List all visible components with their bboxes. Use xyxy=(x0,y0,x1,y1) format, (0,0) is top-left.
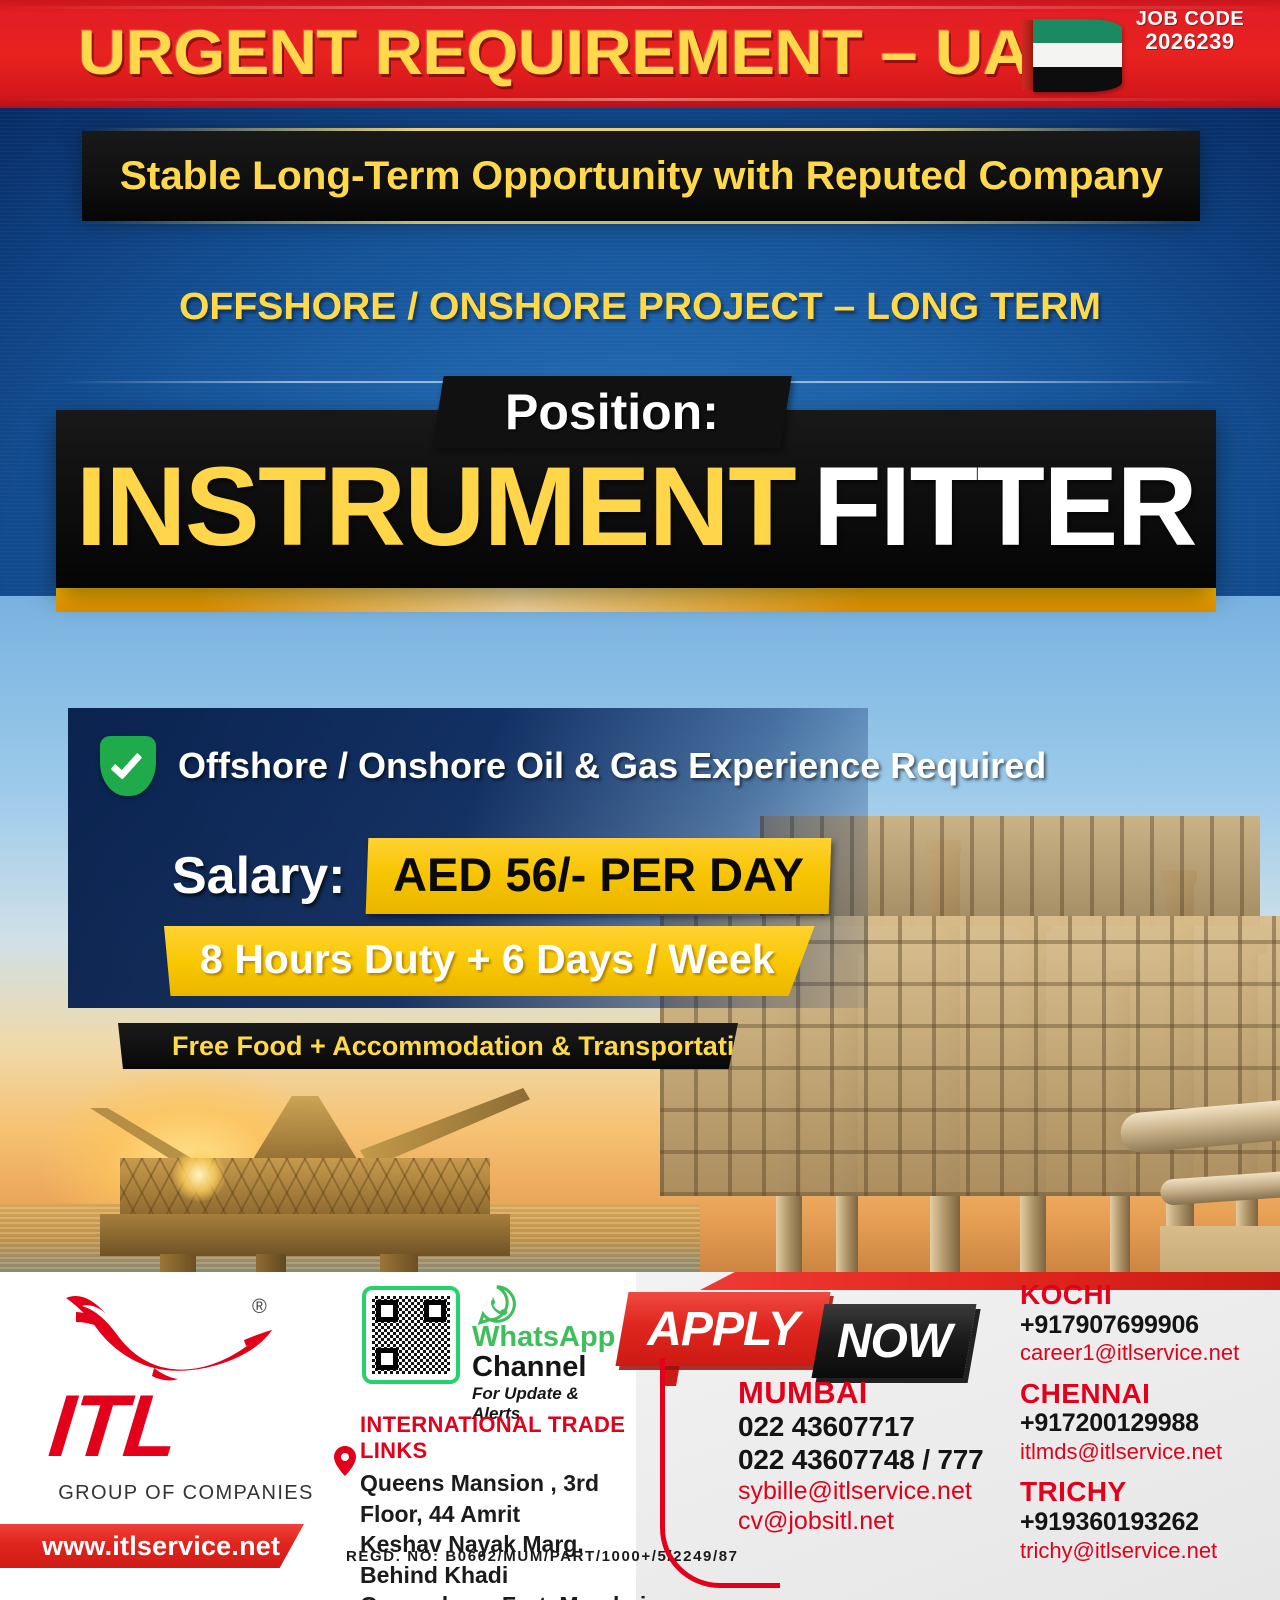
phone-number[interactable]: 022 43607717 xyxy=(738,1410,1008,1443)
email-address[interactable]: sybille@itlservice.net xyxy=(738,1476,1008,1506)
address-line-1: Queens Mansion , 3rd Floor, 44 Amrit xyxy=(360,1468,658,1529)
salary-label: Salary: xyxy=(172,846,345,906)
whatsapp-block[interactable]: WhatsApp Channel For Update & Alerts xyxy=(362,1286,602,1396)
flag-band-black xyxy=(1033,67,1122,92)
contacts-mumbai: MUMBAI 022 43607717 022 43607748 / 777 s… xyxy=(738,1376,1008,1548)
email-address[interactable]: trichy@itlservice.net xyxy=(1020,1538,1270,1564)
rig-derrick xyxy=(250,1096,360,1164)
website-bar[interactable]: www.itlservice.net xyxy=(0,1524,304,1568)
apply-word-black[interactable]: NOW xyxy=(811,1304,976,1378)
flag-pole xyxy=(1022,20,1033,90)
benefits-bar: Free Food + Accommodation & Transportati… xyxy=(118,1023,738,1069)
contact-group: CHENNAI +917200129988 itlmds@itlservice.… xyxy=(1020,1379,1270,1466)
registered-trademark-icon: ® xyxy=(252,1296,267,1319)
rig-deck-lower xyxy=(100,1214,510,1256)
qr-code-icon[interactable] xyxy=(362,1286,460,1384)
salary-value: AED 56/- PER DAY xyxy=(394,847,805,902)
job-title-part1: INSTRUMENT xyxy=(76,442,795,571)
subtitle-bar: Stable Long-Term Opportunity with Repute… xyxy=(82,131,1200,221)
email-address[interactable]: career1@itlservice.net xyxy=(1020,1340,1270,1366)
check-shield-icon xyxy=(100,736,156,796)
project-line: OFFSHORE / ONSHORE PROJECT – LONG TERM xyxy=(0,286,1280,329)
subtitle-text: Stable Long-Term Opportunity with Repute… xyxy=(119,154,1162,199)
footer: ® ITL GROUP OF COMPANIES www.itlservice.… xyxy=(0,1272,1280,1600)
flag-cloth xyxy=(1033,18,1122,92)
header-banner: URGENT REQUIREMENT – UAE JOB CODE 202623… xyxy=(0,0,1280,108)
qr-finder xyxy=(376,1300,398,1322)
requirement-text: Offshore / Onshore Oil & Gas Experience … xyxy=(178,745,1046,787)
contact-group: MUMBAI 022 43607717 022 43607748 / 777 s… xyxy=(738,1376,1008,1536)
address-block: INTERNATIONAL TRADE LINKS Queens Mansion… xyxy=(338,1412,658,1600)
website-url[interactable]: www.itlservice.net xyxy=(42,1531,280,1562)
contact-group: TRICHY +919360193262 trichy@itlservice.n… xyxy=(1020,1477,1270,1564)
rig-crane-right xyxy=(360,1088,530,1168)
contacts-branches: KOCHI +917907699906 career1@itlservice.n… xyxy=(1020,1280,1270,1576)
whatsapp-text: WhatsApp Channel For Update & Alerts xyxy=(472,1322,615,1424)
qr-finder xyxy=(376,1348,398,1370)
salary-row: Salary: AED 56/- PER DAY xyxy=(172,838,830,914)
apply-label[interactable]: APPLY xyxy=(622,1292,824,1366)
logo-wordmark: ITL xyxy=(45,1382,304,1470)
job-title-part2: FITTER xyxy=(813,442,1196,571)
hours-chip: 8 Hours Duty + 6 Days / Week xyxy=(164,926,815,996)
location-pin-icon xyxy=(334,1446,356,1476)
phone-number[interactable]: +917907699906 xyxy=(1020,1311,1270,1341)
flag-band-white xyxy=(1033,43,1122,68)
address-line-3: Gramodyog, Fort, Mumbai- 400001. xyxy=(360,1590,658,1600)
city-name: TRICHY xyxy=(1020,1477,1270,1508)
page-title: URGENT REQUIREMENT – UAE xyxy=(78,8,1032,98)
offshore-oil-rig xyxy=(60,1096,540,1280)
company-logo: ® ITL GROUP OF COMPANIES xyxy=(28,1286,318,1516)
email-address[interactable]: itlmds@itlservice.net xyxy=(1020,1439,1270,1465)
address-company: INTERNATIONAL TRADE LINKS xyxy=(360,1412,658,1464)
email-address[interactable]: cv@jobsitl.net xyxy=(738,1506,1008,1536)
city-name: KOCHI xyxy=(1020,1280,1270,1311)
main-content: Stable Long-Term Opportunity with Repute… xyxy=(0,108,1280,1280)
qr-finder xyxy=(424,1300,446,1322)
job-code-value: 2026239 xyxy=(1120,30,1260,55)
requirement-row: Offshore / Onshore Oil & Gas Experience … xyxy=(100,736,1046,796)
phone-number[interactable]: 022 43607748 / 777 xyxy=(738,1443,1008,1476)
whatsapp-line2: Channel xyxy=(472,1352,615,1382)
job-code-label: JOB CODE xyxy=(1120,8,1260,30)
salary-chip: AED 56/- PER DAY xyxy=(366,838,832,914)
flag-band-green xyxy=(1033,19,1122,44)
checkmark-glyph xyxy=(110,747,142,780)
city-name: CHENNAI xyxy=(1020,1379,1270,1410)
logo-tagline: GROUP OF COMPANIES xyxy=(56,1482,316,1505)
address-lines: Queens Mansion , 3rd Floor, 44 Amrit Kes… xyxy=(360,1468,658,1600)
job-code-block: JOB CODE 2026239 xyxy=(1120,8,1260,55)
uae-flag-icon xyxy=(1022,18,1122,90)
title-bottom-accent-bar xyxy=(56,586,1216,612)
job-title: INSTRUMENT FITTER xyxy=(56,424,1216,588)
whatsapp-line1: WhatsApp xyxy=(472,1322,615,1352)
contact-group: KOCHI +917907699906 career1@itlservice.n… xyxy=(1020,1280,1270,1367)
rig-lamp-glow xyxy=(172,1148,226,1202)
city-name: MUMBAI xyxy=(738,1376,1008,1410)
now-label[interactable]: NOW xyxy=(818,1304,970,1378)
phone-number[interactable]: +919360193262 xyxy=(1020,1508,1270,1538)
phone-number[interactable]: +917200129988 xyxy=(1020,1409,1270,1439)
benefits-text: Free Food + Accommodation & Transportati… xyxy=(172,1031,767,1062)
apply-word-red[interactable]: APPLY xyxy=(615,1292,830,1366)
